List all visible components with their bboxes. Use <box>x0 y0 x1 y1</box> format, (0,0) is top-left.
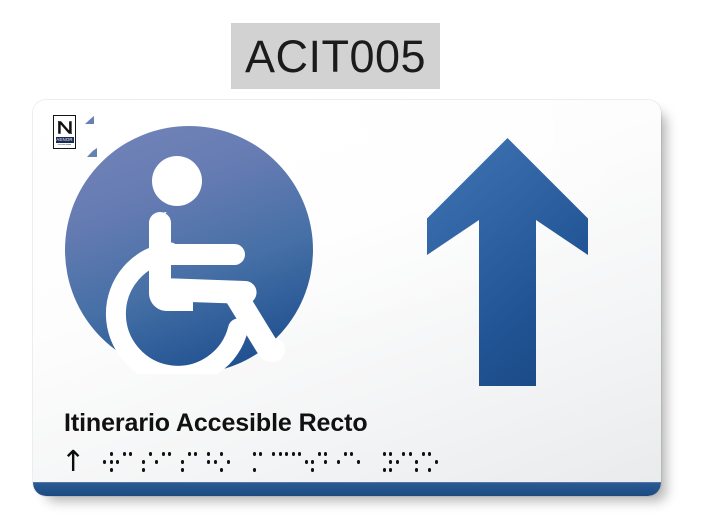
braille-up-arrow-icon: ↑ <box>61 447 85 476</box>
braille-dot <box>207 460 211 464</box>
braille-cell <box>101 451 114 473</box>
braille-dot <box>350 452 354 456</box>
braille-dot <box>181 468 185 472</box>
braille-cell <box>400 451 413 473</box>
braille-cell <box>127 451 140 473</box>
braille-cell <box>296 451 309 473</box>
braille-cell <box>114 451 127 473</box>
braille-dot <box>389 468 393 472</box>
caption-row: Itinerario Accesible Recto <box>64 406 624 440</box>
braille-cell <box>387 451 400 473</box>
braille-dot <box>155 460 159 464</box>
braille-cell <box>426 451 439 473</box>
braille-dot <box>383 468 387 472</box>
braille-dot <box>389 452 393 456</box>
braille-dot <box>292 452 296 456</box>
braille-dot <box>402 452 406 456</box>
braille-dot <box>435 460 439 464</box>
sign-caption-text: Itinerario Accesible Recto <box>64 409 368 438</box>
braille-dot <box>194 452 198 456</box>
braille-dot <box>253 452 257 456</box>
braille-dot <box>214 460 218 464</box>
braille-dot <box>162 452 166 456</box>
braille-dot <box>311 460 315 464</box>
braille-dot <box>272 452 276 456</box>
braille-cell <box>205 451 218 473</box>
braille-cell <box>218 451 231 473</box>
up-arrow-icon <box>427 138 588 386</box>
braille-dot <box>110 468 114 472</box>
braille-dot <box>259 452 263 456</box>
braille-dot <box>123 452 127 456</box>
braille-cell <box>413 451 426 473</box>
braille-cell <box>270 451 283 473</box>
braille-dot <box>422 452 426 456</box>
braille-dot <box>103 460 107 464</box>
braille-dot <box>428 452 432 456</box>
braille-cell <box>374 451 387 473</box>
braille-dot <box>110 452 114 456</box>
braille-dot <box>344 452 348 456</box>
braille-dot <box>253 468 257 472</box>
braille-dot <box>168 452 172 456</box>
braille-dot <box>142 468 146 472</box>
accessible-route-sign-card: AENOR Accesibilidad <box>33 100 661 496</box>
braille-word <box>101 451 231 473</box>
braille-dot <box>129 452 133 456</box>
braille-dot <box>324 460 328 464</box>
braille-cell <box>244 451 257 473</box>
braille-dot <box>220 468 224 472</box>
page-title-chip: ACIT005 <box>231 23 440 89</box>
braille-dot <box>116 460 120 464</box>
braille-dot <box>311 468 315 472</box>
braille-dot <box>298 452 302 456</box>
braille-cell <box>192 451 205 473</box>
braille-dot <box>142 460 146 464</box>
braille-dot <box>181 460 185 464</box>
braille-dot <box>285 452 289 456</box>
braille-dot <box>318 452 322 456</box>
braille-dot <box>207 452 211 456</box>
braille-dot <box>110 460 114 464</box>
braille-dot <box>337 460 341 464</box>
braille-dot <box>220 452 224 456</box>
braille-cells <box>101 451 439 473</box>
braille-cell <box>309 451 322 473</box>
braille-dot <box>383 452 387 456</box>
braille-dot <box>396 460 400 464</box>
braille-dot <box>279 452 283 456</box>
braille-word <box>374 451 439 473</box>
braille-dot <box>389 460 393 464</box>
braille-dot <box>428 468 432 472</box>
page-title: ACIT005 <box>245 34 426 79</box>
braille-dot <box>357 460 361 464</box>
braille-cell <box>348 451 361 473</box>
decorative-fleck-icon <box>85 116 94 124</box>
braille-cell <box>153 451 166 473</box>
braille-dot <box>227 460 231 464</box>
braille-cell <box>257 451 270 473</box>
braille-cell <box>179 451 192 473</box>
braille-cell <box>335 451 348 473</box>
braille-word <box>244 451 361 473</box>
braille-cell <box>283 451 296 473</box>
braille-cell <box>322 451 335 473</box>
braille-row: ↑ <box>61 444 651 480</box>
wheelchair-accessibility-icon <box>65 126 313 374</box>
braille-dot <box>305 460 309 464</box>
braille-dot <box>188 452 192 456</box>
bottom-accent-bar <box>33 482 661 496</box>
braille-dot <box>324 452 328 456</box>
braille-dot <box>415 468 419 472</box>
braille-dot <box>409 452 413 456</box>
braille-dot <box>415 460 419 464</box>
braille-dot <box>149 452 153 456</box>
braille-cell <box>166 451 179 473</box>
braille-cell <box>140 451 153 473</box>
